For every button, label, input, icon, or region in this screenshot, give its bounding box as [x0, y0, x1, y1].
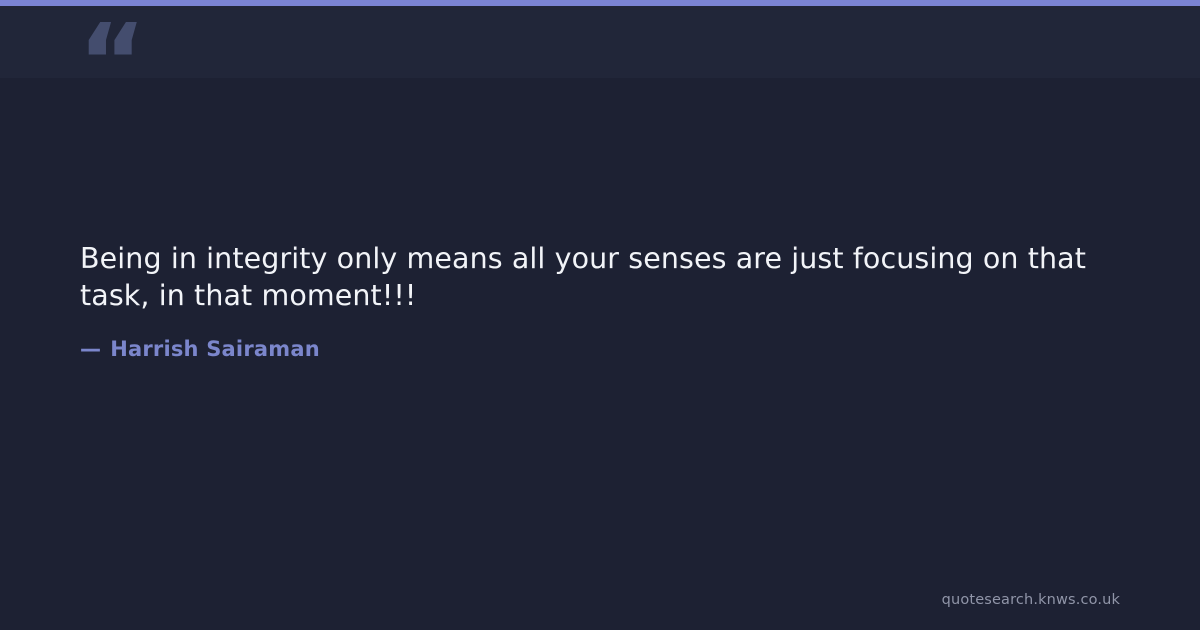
attribution-dash: —	[80, 336, 101, 362]
author-name: Harrish Sairaman	[110, 336, 320, 362]
background-band	[0, 6, 1200, 78]
quote-text: Being in integrity only means all your s…	[80, 240, 1090, 314]
quote-card: “ Being in integrity only means all your…	[0, 0, 1200, 630]
site-watermark: quotesearch.knws.co.uk	[942, 592, 1120, 608]
open-quote-icon: “	[78, 10, 144, 114]
quote-content: Being in integrity only means all your s…	[80, 240, 1120, 362]
quote-attribution: — Harrish Sairaman	[80, 336, 1120, 362]
top-accent-bar	[0, 0, 1200, 6]
